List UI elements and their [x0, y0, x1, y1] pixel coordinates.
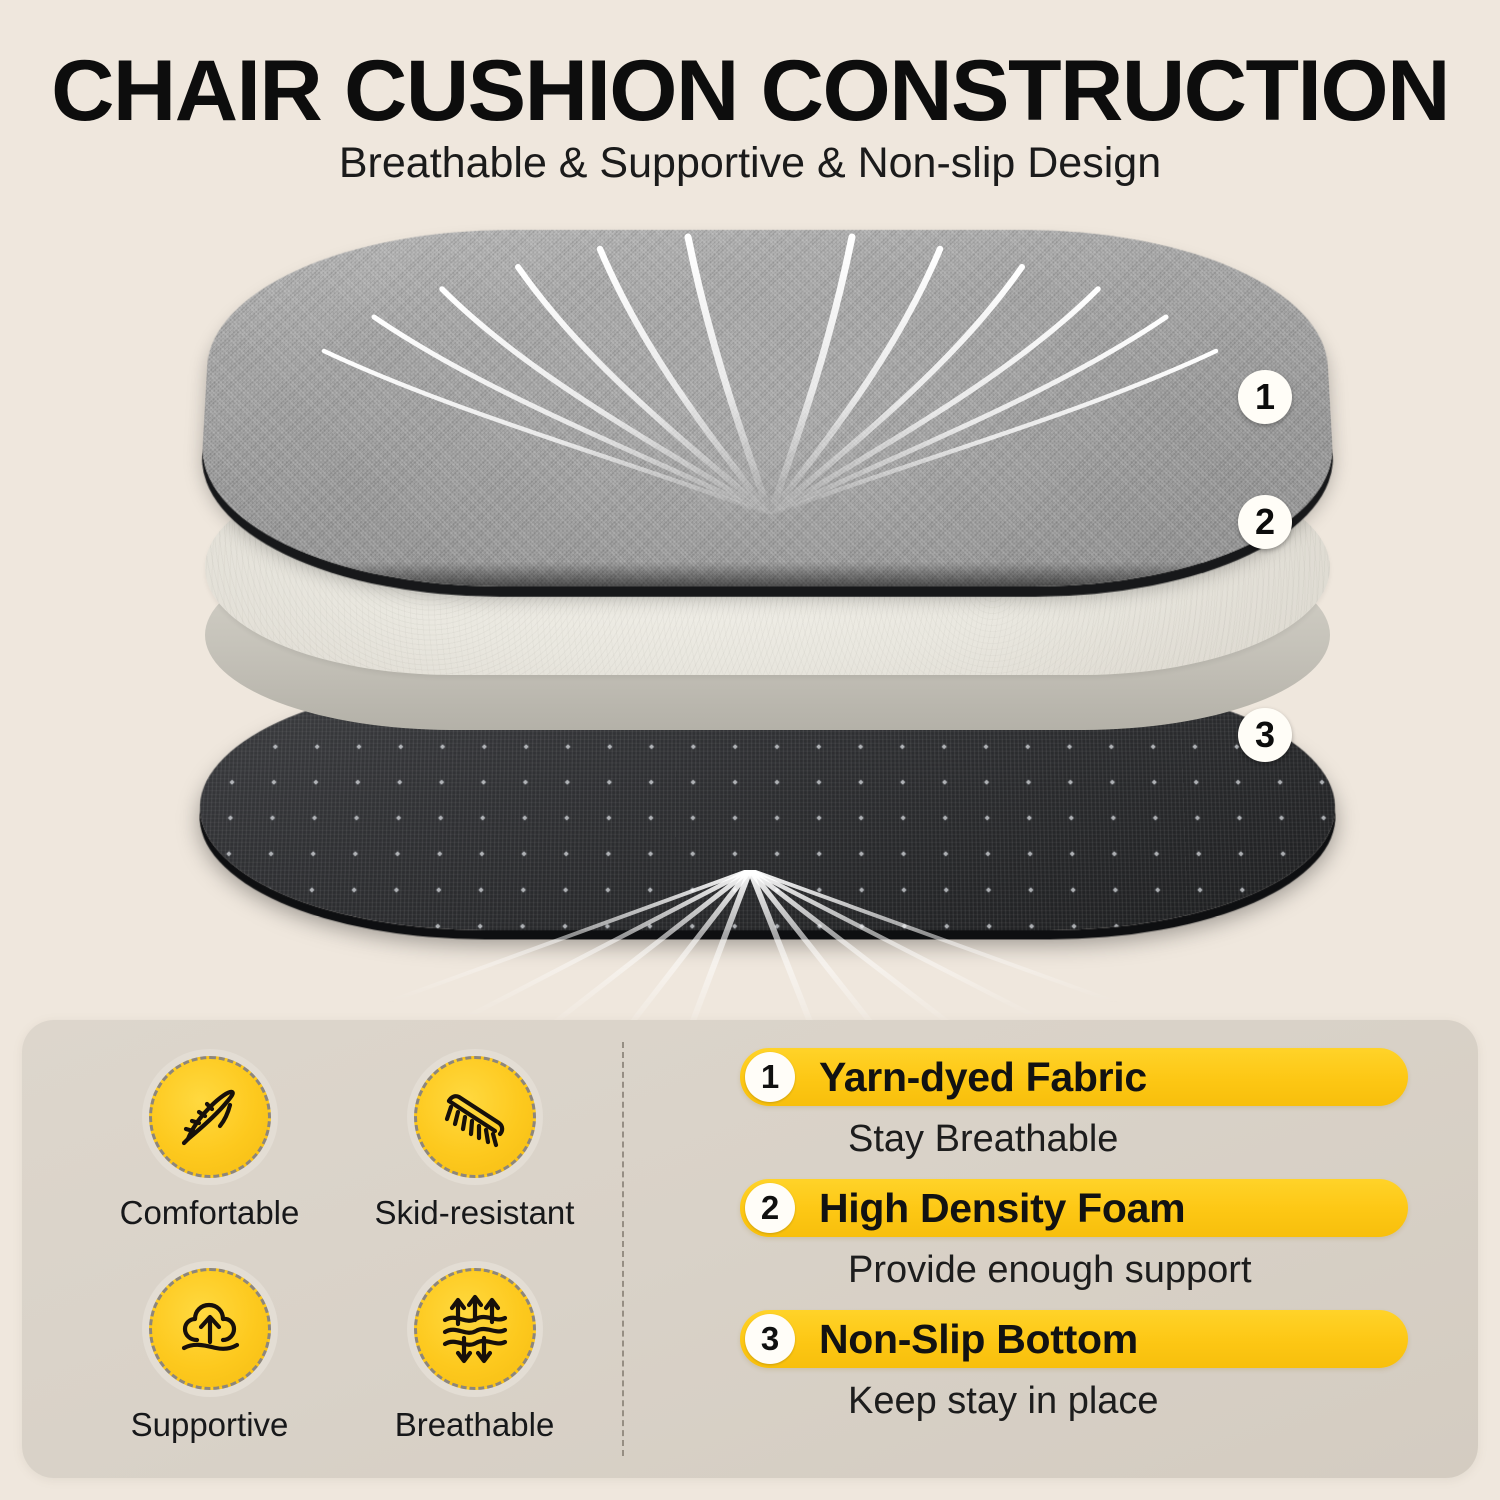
feature-label: Breathable: [395, 1406, 555, 1444]
linen-weave-texture: [195, 230, 1340, 587]
callout-badge-3: 3: [1238, 708, 1292, 762]
detail-subtitle: Keep stay in place: [848, 1380, 1440, 1423]
top-fabric-layer: [205, 225, 1330, 585]
feature-breathable[interactable]: Breathable: [347, 1252, 602, 1460]
cloud-up-arrow-icon: [149, 1268, 271, 1390]
feature-comfortable[interactable]: Comfortable: [82, 1040, 337, 1248]
detail-number-badge: 3: [745, 1314, 795, 1364]
detail-number-badge: 1: [745, 1052, 795, 1102]
detail-pill: 3 Non-Slip Bottom: [740, 1310, 1408, 1368]
page-title: CHAIR CUSHION CONSTRUCTION: [0, 48, 1500, 134]
exploded-product-illustration: 1 2 3: [0, 195, 1500, 1025]
layer-detail-list: 1 Yarn-dyed Fabric Stay Breathable 2 Hig…: [740, 1048, 1440, 1452]
feature-supportive[interactable]: Supportive: [82, 1252, 337, 1460]
card-divider: [622, 1042, 624, 1456]
feature-skid-resistant[interactable]: Skid-resistant: [347, 1040, 602, 1248]
feather-icon: [149, 1056, 271, 1178]
detail-item-2[interactable]: 2 High Density Foam Provide enough suppo…: [740, 1179, 1440, 1292]
detail-item-1[interactable]: 1 Yarn-dyed Fabric Stay Breathable: [740, 1048, 1440, 1161]
detail-title: High Density Foam: [819, 1185, 1185, 1232]
detail-item-3[interactable]: 3 Non-Slip Bottom Keep stay in place: [740, 1310, 1440, 1423]
header: CHAIR CUSHION CONSTRUCTION Breathable & …: [0, 0, 1500, 210]
feature-icon-grid: Comfortable Skid-resistant: [82, 1040, 602, 1460]
callout-badge-2: 2: [1238, 495, 1292, 549]
detail-title: Non-Slip Bottom: [819, 1316, 1138, 1363]
fabric-edge-shadow: [195, 562, 1340, 587]
callout-badge-1: 1: [1238, 370, 1292, 424]
detail-subtitle: Stay Breathable: [848, 1118, 1440, 1161]
detail-number-badge: 2: [745, 1183, 795, 1233]
detail-pill: 2 High Density Foam: [740, 1179, 1408, 1237]
detail-pill: 1 Yarn-dyed Fabric: [740, 1048, 1408, 1106]
feature-label: Comfortable: [120, 1194, 300, 1232]
feature-label: Skid-resistant: [375, 1194, 575, 1232]
feature-label: Supportive: [131, 1406, 289, 1444]
airflow-arrows-icon: [414, 1268, 536, 1390]
benefits-card: Comfortable Skid-resistant: [22, 1020, 1478, 1478]
detail-title: Yarn-dyed Fabric: [819, 1054, 1147, 1101]
fabric-slab: [195, 230, 1340, 587]
grip-brush-icon: [414, 1056, 536, 1178]
detail-subtitle: Provide enough support: [848, 1249, 1440, 1292]
page-subtitle: Breathable & Supportive & Non-slip Desig…: [0, 142, 1500, 185]
